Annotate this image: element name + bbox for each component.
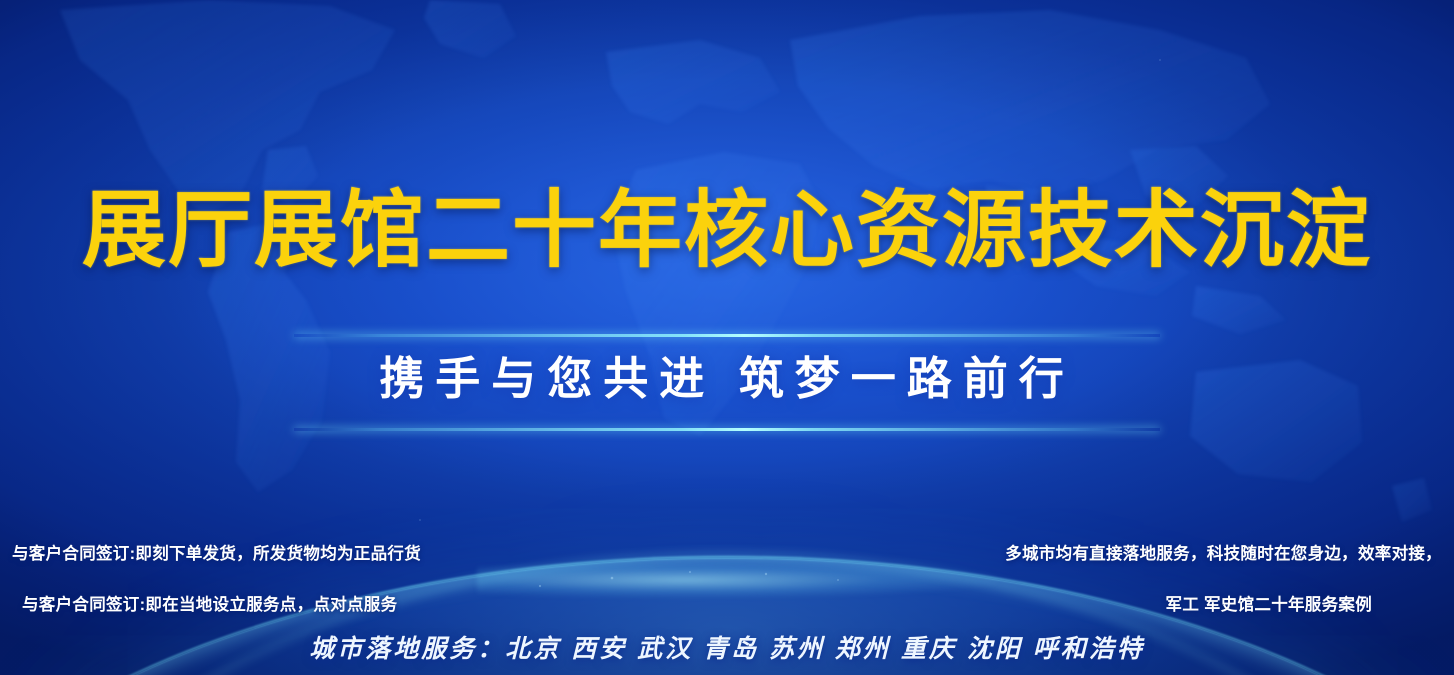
feature-left-1: 与客户合同签订:即刻下单发货，所发货物均为正品行货 <box>12 540 421 564</box>
divider-top <box>294 334 1160 337</box>
cities-service-line: 城市落地服务：北京 西安 武汉 青岛 苏州 郑州 重庆 沈阳 呼和浩特 <box>0 629 1454 665</box>
feature-right-2: 军工 军史馆二十年服务案例 <box>1166 591 1372 615</box>
divider-bottom <box>294 428 1160 431</box>
promo-banner: 展厅展馆二十年核心资源技术沉淀 携手与您共进 筑梦一路前行 与客户合同签订:即刻… <box>0 0 1454 675</box>
subtitle: 携手与您共进 筑梦一路前行 <box>0 352 1454 406</box>
feature-left-2: 与客户合同签订:即在当地设立服务点，点对点服务 <box>22 591 397 615</box>
feature-right-1: 多城市均有直接落地服务，科技随时在您身边，效率对接， <box>1005 540 1442 564</box>
page-title: 展厅展馆二十年核心资源技术沉淀 <box>0 188 1454 272</box>
